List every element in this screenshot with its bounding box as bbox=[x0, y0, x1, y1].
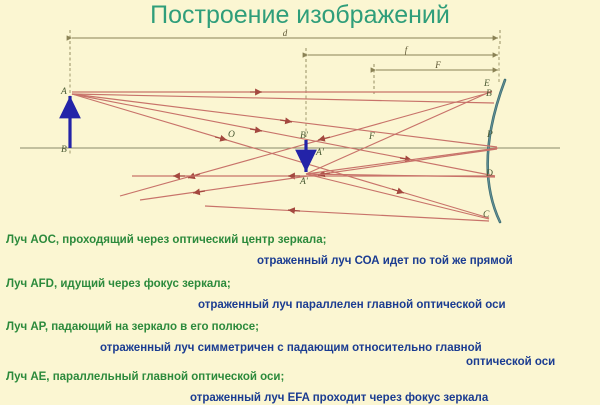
caption-reflected-4: отраженный луч EFA проходит через фокус … bbox=[190, 392, 488, 405]
ray-convergence-at-image bbox=[306, 91, 498, 219]
caption-ray-2: Луч AFD, идущий через фокус зеркала; bbox=[6, 278, 231, 291]
dimension-label-f: f bbox=[405, 45, 409, 55]
page-title: Построение изображений bbox=[0, 0, 600, 30]
label-point-O: O bbox=[228, 130, 235, 140]
caption-ray-1: Луч AOC, проходящий через оптический цен… bbox=[6, 234, 326, 247]
label-point-E: E bbox=[483, 79, 490, 89]
caption-reflected-3b: оптической оси bbox=[466, 356, 555, 369]
ray-AOC bbox=[72, 94, 489, 218]
caption-reflected-1: отраженный луч СОА идет по той же прямой bbox=[257, 255, 513, 268]
caption-ray-4: Луч AE, параллельный главной оптической … bbox=[6, 371, 284, 384]
dimension-label-d: d bbox=[283, 28, 288, 38]
caption-ray-3: Луч AP, падающий на зеркало в его полюсе… bbox=[6, 321, 259, 334]
caption-block: Луч AOC, проходящий через оптический цен… bbox=[0, 231, 600, 400]
caption-reflected-3a: отраженный луч симметричен с падающим от… bbox=[100, 342, 482, 355]
dimension-label-F: F bbox=[434, 60, 441, 70]
dimension-f: f bbox=[306, 45, 498, 90]
label-point-Aprime: A' bbox=[299, 177, 309, 187]
concave-mirror bbox=[488, 80, 505, 222]
concave-mirror-highlight bbox=[488, 80, 505, 222]
label-point-B: B bbox=[61, 145, 67, 155]
label-point-C: C bbox=[483, 210, 490, 220]
label-point-A: A bbox=[60, 87, 67, 97]
label-image-side: A' bbox=[315, 148, 325, 158]
ray-AFD bbox=[72, 94, 495, 176]
optics-diagram: d f F bbox=[0, 28, 600, 233]
label-point-D: D bbox=[485, 169, 493, 179]
slide-root: Построение изображений d bbox=[0, 0, 600, 400]
label-point-Bprime: B' bbox=[300, 131, 309, 141]
dimension-F: F bbox=[374, 60, 498, 94]
label-point-P: P bbox=[486, 130, 493, 140]
label-point-F: F bbox=[368, 132, 375, 142]
label-point-B-mirror: B bbox=[486, 89, 492, 99]
caption-reflected-2: отраженный луч параллелен главной оптиче… bbox=[198, 299, 506, 312]
ray-bundle bbox=[72, 91, 498, 221]
